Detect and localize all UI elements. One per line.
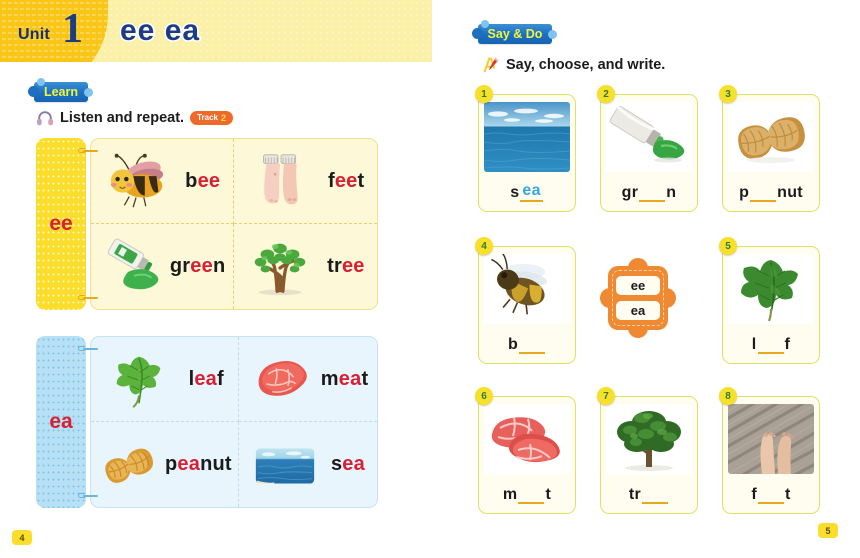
word-prefix: b: [508, 336, 518, 354]
feet-illustration: [247, 150, 315, 212]
right-page: Say & Do Say, choose, and write. 1: [460, 0, 860, 558]
unit-number: 1: [62, 8, 83, 50]
word-suffix: t: [785, 486, 791, 504]
answer-line[interactable]: b: [508, 336, 546, 354]
word-prefix: s: [510, 184, 519, 202]
binder-ring-icon: [78, 295, 98, 300]
headphone-icon: [36, 110, 54, 126]
word-cell[interactable]: leaf: [91, 337, 239, 422]
task-text: Listen and repeat.: [60, 110, 184, 126]
track-number: 2: [221, 113, 226, 123]
word-group-ee: ee: [36, 138, 378, 310]
task-say-choose-write: Say, choose, and write.: [482, 56, 665, 74]
sea-photo: [484, 102, 570, 172]
binder-ring-icon: [78, 493, 98, 498]
section-badge-say-and-do: Say & Do: [478, 24, 552, 44]
word-text: sea: [331, 453, 365, 476]
word-prefix: f: [751, 486, 757, 504]
page-number-right: 5: [818, 523, 838, 538]
word-cell[interactable]: feet: [234, 139, 377, 224]
answer-blank[interactable]: [758, 490, 784, 504]
sea-illustration: [251, 434, 319, 496]
green-paint-illustration: [99, 236, 167, 298]
question-number: 7: [597, 387, 615, 405]
meat-illustration: [247, 348, 315, 410]
word-suffix: nut: [777, 184, 803, 202]
bee-photo: [484, 254, 570, 324]
filled-answer: ea: [520, 182, 542, 202]
answer-blank[interactable]: [519, 340, 545, 354]
unit-phonics-title: ee ea: [120, 14, 200, 48]
binder-ring-icon: [78, 346, 98, 351]
question-number: 2: [597, 85, 615, 103]
word-text: tree: [327, 255, 365, 278]
binder-ring-icon: [78, 148, 98, 153]
word-prefix: tr: [629, 486, 641, 504]
feet-photo: [728, 404, 814, 474]
question-row: 1: [478, 94, 820, 212]
question-number: 6: [475, 387, 493, 405]
answer-blank[interactable]: [642, 490, 668, 504]
puzzle-knob-icon: [37, 78, 45, 86]
section-badge-label: Learn: [44, 85, 78, 99]
question-card[interactable]: 4: [478, 246, 576, 364]
question-number: 1: [475, 85, 493, 103]
word-prefix: gr: [622, 184, 639, 202]
section-badge-label: Say & Do: [488, 27, 543, 41]
word-prefix: l: [752, 336, 757, 354]
answer-line[interactable]: p nut: [739, 184, 803, 202]
answer-line[interactable]: tr: [629, 486, 669, 504]
answer-blank[interactable]: [639, 188, 665, 202]
word-suffix: t: [545, 486, 551, 504]
question-card[interactable]: 7: [600, 396, 698, 514]
track-label: Track: [197, 113, 218, 122]
word-text: peanut: [165, 453, 232, 476]
word-prefix: m: [503, 486, 518, 504]
word-group-ea: ea leaf: [36, 336, 378, 508]
leaf-photo: [728, 254, 814, 324]
unit-label: Unit: [18, 26, 50, 44]
tree-photo: [606, 404, 692, 474]
word-cell[interactable]: tree: [234, 224, 377, 309]
question-card[interactable]: 3: [722, 94, 820, 212]
answer-line[interactable]: l f: [752, 336, 790, 354]
puzzle-knob-icon: [481, 20, 489, 28]
word-text: meat: [321, 368, 369, 391]
unit-header-gold-shape: [0, 0, 108, 62]
question-card[interactable]: 2 g: [600, 94, 698, 212]
word-grid-ee: bee: [90, 138, 378, 310]
word-prefix: p: [739, 184, 749, 202]
option-choice-ee[interactable]: ee: [616, 276, 660, 295]
section-badge-learn: Learn: [34, 82, 88, 102]
word-text: leaf: [189, 368, 224, 391]
question-card[interactable]: 6: [478, 396, 576, 514]
option-choice-ea[interactable]: ea: [616, 301, 660, 320]
green-paint-photo: [606, 102, 692, 172]
answer-line[interactable]: gr n: [622, 184, 677, 202]
phonics-tab-label: ee: [49, 212, 72, 236]
word-text: green: [170, 255, 225, 278]
word-cell[interactable]: green: [91, 224, 234, 309]
question-row: 6: [478, 396, 820, 514]
question-card[interactable]: 1: [478, 94, 576, 212]
option-box-ee-ea[interactable]: ee ea: [600, 258, 676, 338]
word-text: feet: [328, 170, 364, 193]
answer-blank[interactable]: [518, 490, 544, 504]
left-page: Unit 1 ee ea Learn Listen and repeat. Tr…: [0, 0, 432, 558]
answer-blank[interactable]: [750, 188, 776, 202]
word-suffix: f: [785, 336, 791, 354]
phonics-tab-ea: ea: [36, 336, 86, 508]
word-grid-ea: leaf: [90, 336, 378, 508]
meat-photo: [484, 404, 570, 474]
task-listen-and-repeat: Listen and repeat. Track 2: [36, 110, 233, 126]
word-cell[interactable]: peanut: [91, 422, 239, 507]
leaf-illustration: [105, 348, 173, 410]
answer-line[interactable]: s ea: [510, 182, 544, 202]
answer-line[interactable]: m t: [503, 486, 551, 504]
word-cell[interactable]: meat: [239, 337, 377, 422]
word-cell[interactable]: sea: [239, 422, 377, 507]
question-number: 8: [719, 387, 737, 405]
phonics-tab-label: ea: [49, 410, 72, 434]
workbook-spread: Unit 1 ee ea Learn Listen and repeat. Tr…: [0, 0, 860, 558]
task-text: Say, choose, and write.: [506, 57, 665, 73]
pencil-a-icon: [482, 56, 500, 74]
question-number: 4: [475, 237, 493, 255]
question-number: 5: [719, 237, 737, 255]
answer-blank[interactable]: [758, 340, 784, 354]
tree-illustration: [246, 236, 314, 298]
answer-line[interactable]: f t: [751, 486, 790, 504]
question-card[interactable]: 8: [722, 396, 820, 514]
bee-illustration: [104, 150, 172, 212]
phonics-tab-ee: ee: [36, 138, 86, 310]
peanut-illustration: [97, 434, 165, 496]
question-number: 3: [719, 85, 737, 103]
word-text: bee: [185, 170, 220, 193]
track-badge[interactable]: Track 2: [190, 111, 233, 125]
page-number-left: 4: [12, 530, 32, 545]
word-cell[interactable]: bee: [91, 139, 234, 224]
question-card[interactable]: 5 l f: [722, 246, 820, 364]
word-suffix: n: [666, 184, 676, 202]
peanut-photo: [728, 102, 814, 172]
